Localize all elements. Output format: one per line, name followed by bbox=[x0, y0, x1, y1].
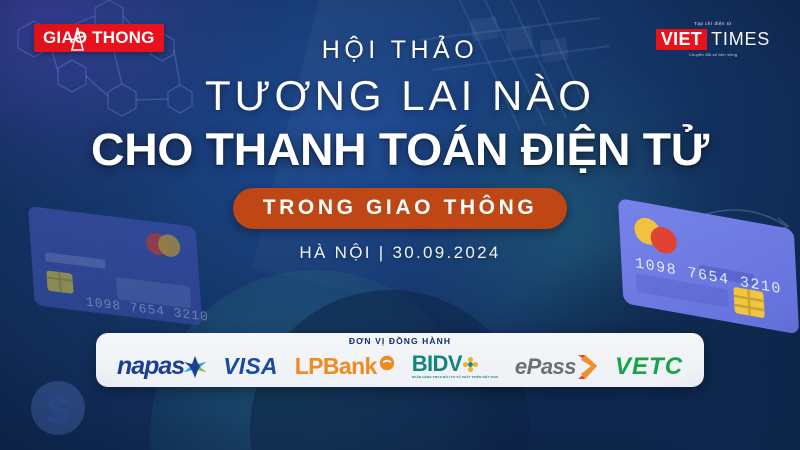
sponsor-logo-row: napas VISA LPBank bbox=[96, 346, 704, 387]
sponsor-logo-visa[interactable]: VISA bbox=[223, 355, 277, 378]
headline-line-2: CHO THANH TOÁN ĐIỆN TỬ bbox=[0, 125, 800, 175]
napas-wordmark: napas bbox=[117, 354, 184, 379]
event-banner: $ $ 1098 7654 3210 bbox=[0, 0, 800, 450]
sponsor-bar-title: ĐƠN VỊ ĐỒNG HÀNH bbox=[349, 336, 451, 346]
headline-block: HỘI THẢO TƯƠNG LAI NÀO CHO THANH TOÁN ĐI… bbox=[0, 38, 800, 263]
sponsor-bar: ĐƠN VỊ ĐỒNG HÀNH napas VISA LPBank bbox=[96, 333, 704, 387]
svg-text:$: $ bbox=[47, 389, 69, 433]
lpbank-wordmark: LPBank bbox=[295, 355, 377, 378]
lpbank-coin-icon bbox=[379, 355, 395, 371]
headline-pill-badge: TRONG GIAO THÔNG bbox=[233, 188, 568, 229]
napas-star-icon bbox=[184, 356, 206, 378]
epass-wordmark: ePass bbox=[515, 356, 576, 378]
bidv-tagline: NGÂN HÀNG TMCP ĐẦU TƯ VÀ PHÁT TRIỂN VIỆT… bbox=[412, 376, 498, 379]
headline-eyebrow: HỘI THẢO bbox=[0, 38, 800, 63]
headline-line-1: TƯƠNG LAI NÀO bbox=[0, 71, 800, 121]
bidv-wordmark: BIDV bbox=[412, 353, 462, 375]
sponsor-logo-bidv[interactable]: BIDV NGÂN HÀNG TMCP ĐẦU TƯ VÀ PHÁT TRIỂN… bbox=[412, 353, 498, 379]
epass-chevron-icon bbox=[576, 354, 598, 380]
sponsor-logo-vetc[interactable]: VETC bbox=[615, 355, 683, 379]
vetc-wordmark: VETC bbox=[615, 355, 683, 379]
sponsor-logo-napas[interactable]: napas bbox=[117, 354, 206, 379]
visa-wordmark: VISA bbox=[223, 355, 277, 378]
bidv-flower-icon bbox=[463, 357, 478, 372]
sponsor-logo-epass[interactable]: ePass bbox=[515, 354, 598, 380]
viet-times-eyebrow: Tạp chí điện tử bbox=[654, 22, 772, 27]
bidv-wordmark-row: BIDV bbox=[412, 353, 478, 375]
event-date-location: HÀ NỘI | 30.09.2024 bbox=[0, 243, 800, 263]
sponsor-logo-lpbank[interactable]: LPBank bbox=[295, 355, 395, 379]
dollar-coin-icon: $ bbox=[31, 381, 85, 435]
